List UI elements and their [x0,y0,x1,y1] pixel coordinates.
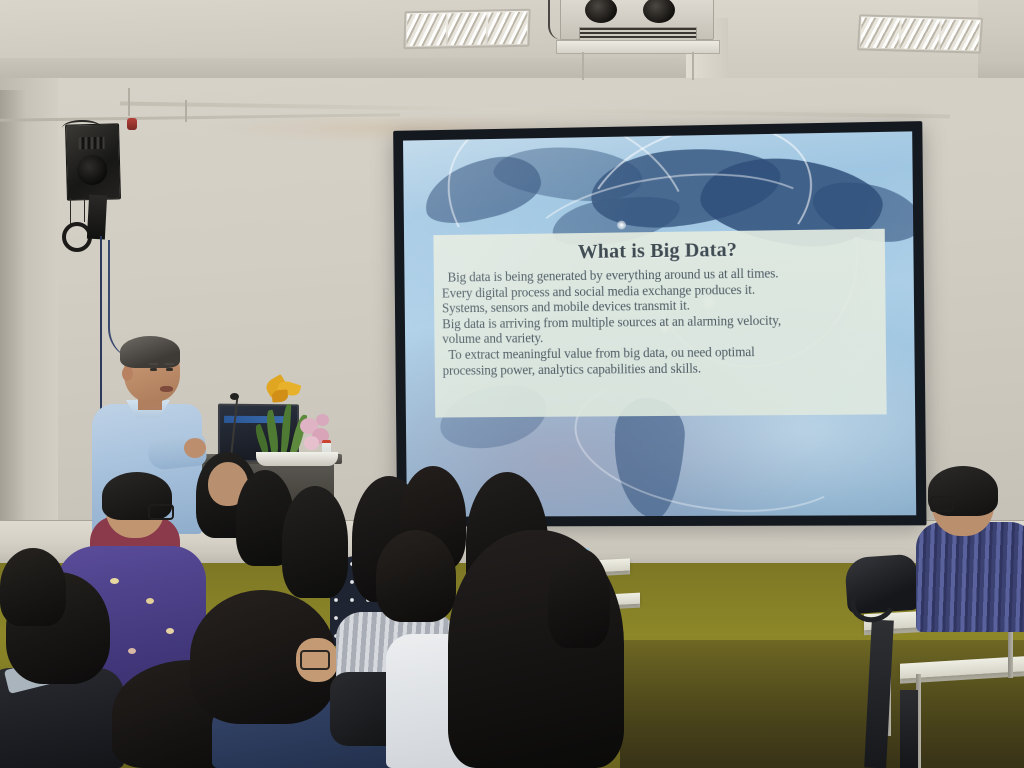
light-louver [447,13,487,46]
audience-hair [376,530,456,622]
presenter-mouth [160,386,173,392]
presenter-eye [166,368,173,371]
microphone-icon [230,393,239,400]
wall-shadow [0,90,26,560]
lecture-hall-photo: What is Big Data? Big data is being gene… [0,0,1024,768]
presenter-hand [184,438,206,458]
speaker-hanging-wire [70,198,71,224]
orchid-bloom-icon [304,436,319,450]
slide-title: What is Big Data? [441,237,877,266]
light-louver [406,13,446,46]
jacket-print [110,578,119,584]
projection-screen: What is Big Data? Big data is being gene… [393,121,926,527]
conduit-drop [185,100,187,122]
audience-hair [282,486,348,598]
speaker-hanging-wire [84,198,85,222]
speaker-cone-icon [77,155,108,186]
wall-speaker-icon [65,123,121,200]
light-louver [488,12,528,45]
speaker-bracket [87,195,107,240]
ceiling-projector-icon [560,0,714,40]
presenter-ear [122,366,133,381]
projector-lens-icon [643,0,675,23]
audience-hair [0,548,66,626]
jacket-print [128,648,136,654]
audience-hair [548,548,610,648]
presenter-eyebrow [165,363,174,365]
presenter-eyebrow [149,363,158,365]
projector-mount-rod [582,52,584,80]
light-louver [900,19,940,50]
jacket-print [166,628,174,634]
presenter-eye [150,368,157,371]
conduit-drop [128,88,130,116]
network-node-icon [617,220,626,229]
red-pipe-fitting-icon [127,118,137,130]
projector-mount-rod [692,52,694,80]
glasses-icon [930,496,954,512]
projector-mount-plate [556,40,720,54]
speaker-vent [78,137,104,150]
slide-body-line: processing power, analytics capabilities… [443,359,879,378]
ceiling-light-icon [403,9,530,50]
list-item [916,522,1024,632]
glasses-icon [148,504,174,520]
jacket-print [146,598,154,604]
chair [900,690,918,768]
light-louver [940,20,980,51]
projector-lens-icon [585,0,617,23]
flower-planter [256,452,338,466]
glasses-icon [300,650,330,670]
ceiling-light-icon [857,14,983,53]
projected-slide: What is Big Data? Big data is being gene… [403,131,916,516]
light-louver [860,17,900,48]
slide-text-box: What is Big Data? Big data is being gene… [433,229,886,418]
